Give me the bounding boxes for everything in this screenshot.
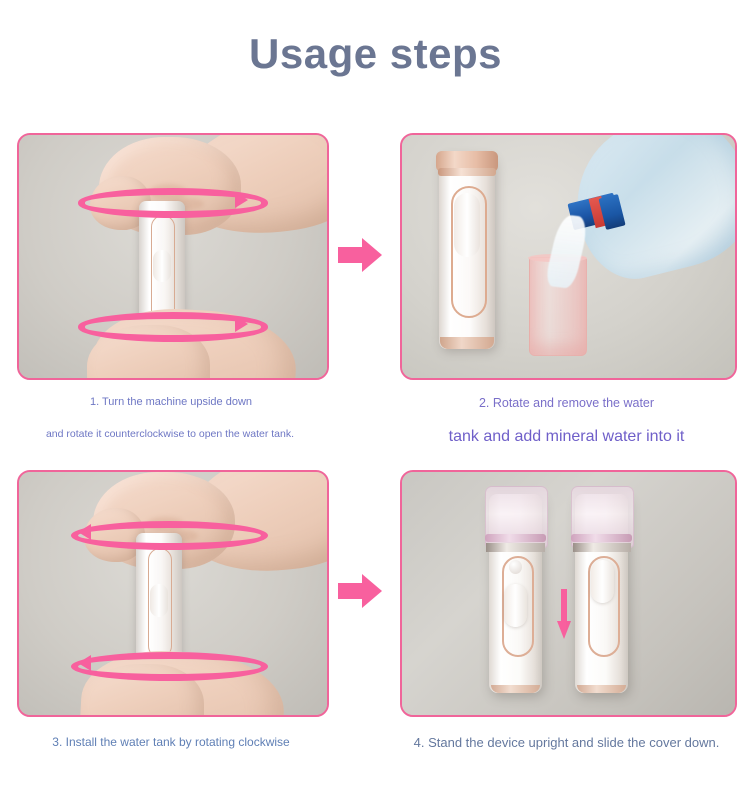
usage-steps-page: Usage steps: [0, 0, 751, 789]
rotation-arrowhead-bottom: [235, 316, 248, 332]
arrow-head: [362, 238, 382, 272]
device-cover-slider: [504, 584, 527, 628]
step-3-photo: [19, 472, 327, 715]
device-base-ring: [491, 685, 540, 693]
device-cap-ring: [571, 534, 632, 542]
nano-mister-device: [439, 154, 496, 348]
step-4-photo: [402, 472, 735, 715]
device-cover-slider: [591, 560, 614, 604]
arrow-head: [557, 621, 571, 639]
arrow-step-1-to-2-icon: [338, 238, 382, 272]
step-1-photo: [19, 135, 327, 378]
device-neck: [486, 543, 545, 552]
device-cap-ring: [485, 534, 546, 542]
arrow-step-3-to-4-icon: [338, 574, 382, 608]
device-base-ring: [577, 685, 626, 693]
step-1-caption-line1: 1. Turn the machine upside down: [17, 396, 325, 408]
device-neck: [573, 543, 632, 552]
device-base-ring: [440, 337, 494, 349]
device-power-button: [509, 560, 522, 574]
arrow-shaft: [338, 247, 364, 263]
device-cap-rim: [438, 168, 497, 176]
step-1-image-panel: [17, 133, 329, 380]
slide-cover-down-arrow-icon: [557, 589, 571, 641]
nano-mister-device-cover-down: [575, 494, 628, 693]
arrow-shaft: [338, 583, 364, 599]
page-title: Usage steps: [0, 30, 751, 78]
step-2-photo: [402, 135, 735, 378]
step-2-caption-line1: 2. Rotate and remove the water: [400, 396, 733, 410]
rotation-arrowhead-bottom: [78, 655, 91, 671]
device-slider-pill: [153, 250, 171, 282]
device-slider-pill: [150, 584, 168, 617]
step-3-image-panel: [17, 470, 329, 717]
rotation-arrow-top-icon: [71, 521, 268, 550]
nano-mister-device-cover-up: [489, 494, 542, 693]
step-4-caption: 4. Stand the device upright and slide th…: [400, 735, 733, 750]
step-2-caption-line2: tank and add mineral water into it: [400, 428, 733, 446]
rotation-arrow-bottom-icon: [71, 652, 268, 681]
arrow-head: [362, 574, 382, 608]
device-slider-pill: [454, 193, 480, 257]
rotation-arrowhead-top: [78, 524, 91, 540]
step-4-image-panel: [400, 470, 737, 717]
step-2-image-panel: [400, 133, 737, 380]
step-1-caption-line2: and rotate it counterclockwise to open t…: [0, 428, 340, 440]
rotation-arrowhead-top: [235, 192, 248, 208]
arrow-shaft: [561, 589, 567, 623]
step-3-caption: 3. Install the water tank by rotating cl…: [17, 735, 325, 749]
